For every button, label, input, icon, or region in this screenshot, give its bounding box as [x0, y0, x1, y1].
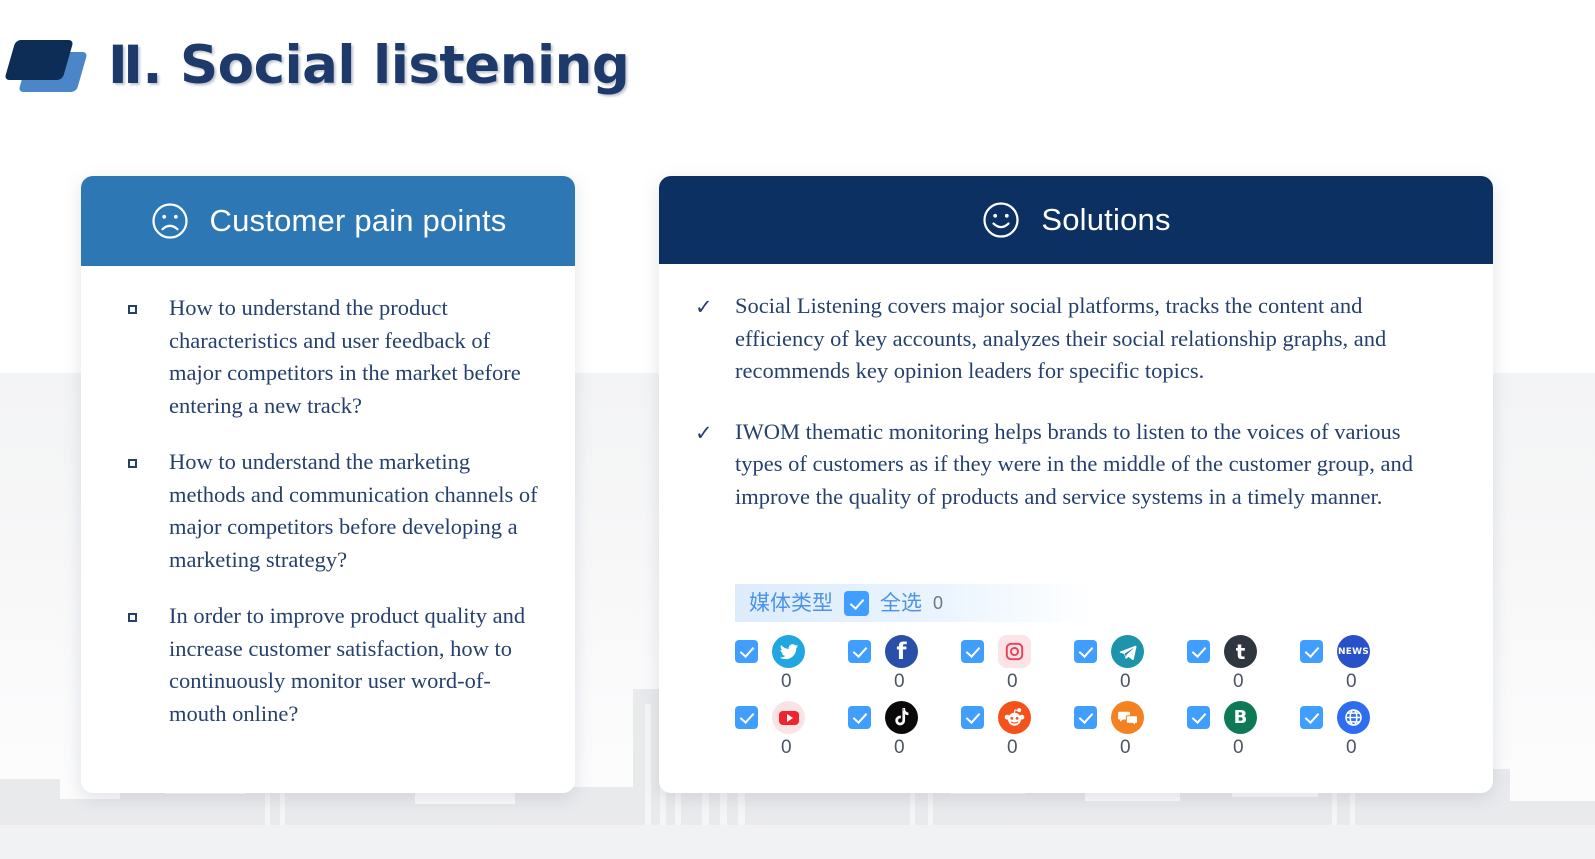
media-cell-forum: 0 — [1074, 701, 1187, 757]
blog-icon-label: B — [1234, 709, 1248, 727]
smiling-face-icon — [981, 200, 1021, 240]
solutions-card-body: ✓ Social Listening covers major social p… — [659, 264, 1493, 513]
select-all-count: 0 — [933, 594, 943, 612]
forum-checkbox[interactable] — [1074, 706, 1097, 729]
news-icon-label: NEWS — [1338, 647, 1369, 657]
forum-count: 0 — [1120, 738, 1131, 757]
media-cell-web: 0 — [1300, 701, 1413, 757]
globe-icon[interactable] — [1337, 701, 1370, 734]
page-title: Ⅱ. Social listening — [108, 39, 629, 92]
tiktok-count: 0 — [894, 738, 905, 757]
square-bullet-icon — [128, 459, 137, 468]
media-cell-tumblr: t 0 — [1187, 635, 1300, 691]
media-type-label: 媒体类型 — [749, 593, 833, 614]
reddit-icon[interactable] — [998, 701, 1031, 734]
customer-pain-points-card: Customer pain points How to understand t… — [81, 176, 575, 793]
news-checkbox[interactable] — [1300, 640, 1323, 663]
tiktok-icon[interactable] — [885, 701, 918, 734]
media-cell-twitter: 0 — [735, 635, 848, 691]
tumblr-checkbox[interactable] — [1187, 640, 1210, 663]
blog-icon[interactable]: B — [1224, 701, 1257, 734]
solutions-list: ✓ Social Listening covers major social p… — [659, 290, 1493, 513]
telegram-checkbox[interactable] — [1074, 640, 1097, 663]
reddit-checkbox[interactable] — [961, 706, 984, 729]
youtube-icon[interactable] — [772, 701, 805, 734]
pain-item-text: In order to improve product quality and … — [169, 600, 541, 730]
instagram-icon[interactable] — [998, 635, 1031, 668]
solutions-card-title: Solutions — [1041, 202, 1170, 238]
stacked-parallelogram-logo-icon — [8, 34, 82, 96]
media-cell-blog: B 0 — [1187, 701, 1300, 757]
list-item: How to understand the product characteri… — [111, 292, 553, 422]
frowning-face-icon — [150, 201, 190, 241]
web-checkbox[interactable] — [1300, 706, 1323, 729]
twitter-count: 0 — [781, 672, 792, 691]
instagram-count: 0 — [1007, 672, 1018, 691]
telegram-icon[interactable] — [1111, 635, 1144, 668]
solution-item-text: Social Listening covers major social pla… — [735, 290, 1449, 388]
media-cell-facebook: f 0 — [848, 635, 961, 691]
blog-count: 0 — [1233, 738, 1244, 757]
twitter-icon[interactable] — [772, 635, 805, 668]
pain-card-title: Customer pain points — [210, 203, 507, 239]
forum-icon[interactable] — [1111, 701, 1144, 734]
youtube-count: 0 — [781, 738, 792, 757]
media-cell-telegram: 0 — [1074, 635, 1187, 691]
facebook-icon[interactable]: f — [885, 635, 918, 668]
media-cell-youtube: 0 — [735, 701, 848, 757]
list-item: How to understand the marketing methods … — [111, 446, 553, 576]
facebook-count: 0 — [894, 672, 905, 691]
list-item: ✓ IWOM thematic monitoring helps brands … — [687, 416, 1449, 514]
select-all-checkbox[interactable] — [844, 591, 869, 616]
blog-checkbox[interactable] — [1187, 706, 1210, 729]
pain-card-body: How to understand the product characteri… — [81, 266, 575, 730]
media-cell-reddit: 0 — [961, 701, 1074, 757]
slide-header: Ⅱ. Social listening — [0, 0, 629, 130]
media-cell-tiktok: 0 — [848, 701, 961, 757]
select-all-label[interactable]: 全选 — [880, 593, 922, 614]
web-count: 0 — [1346, 738, 1357, 757]
solutions-card-header: Solutions — [659, 176, 1493, 264]
square-bullet-icon — [128, 305, 137, 314]
media-cell-instagram: 0 — [961, 635, 1074, 691]
square-bullet-icon — [128, 613, 137, 622]
list-item: In order to improve product quality and … — [111, 600, 553, 730]
telegram-count: 0 — [1120, 672, 1131, 691]
pain-card-header: Customer pain points — [81, 176, 575, 266]
tiktok-checkbox[interactable] — [848, 706, 871, 729]
media-type-grid: 0 f 0 — [735, 635, 1415, 757]
instagram-checkbox[interactable] — [961, 640, 984, 663]
news-count: 0 — [1346, 672, 1357, 691]
twitter-checkbox[interactable] — [735, 640, 758, 663]
facebook-checkbox[interactable] — [848, 640, 871, 663]
pain-item-text: How to understand the marketing methods … — [169, 446, 541, 576]
pain-item-text: How to understand the product characteri… — [169, 292, 541, 422]
check-bullet-icon: ✓ — [695, 423, 715, 444]
solution-item-text: IWOM thematic monitoring helps brands to… — [735, 416, 1449, 514]
tumblr-count: 0 — [1233, 672, 1244, 691]
list-item: ✓ Social Listening covers major social p… — [687, 290, 1449, 388]
youtube-checkbox[interactable] — [735, 706, 758, 729]
pain-point-list: How to understand the product characteri… — [81, 292, 575, 730]
check-bullet-icon: ✓ — [695, 297, 715, 318]
tumblr-icon[interactable]: t — [1224, 635, 1257, 668]
media-type-row: 0 0 — [735, 701, 1415, 757]
media-cell-news: NEWS 0 — [1300, 635, 1413, 691]
media-type-selector: 媒体类型 全选 0 0 — [735, 584, 1415, 767]
reddit-count: 0 — [1007, 738, 1018, 757]
news-icon[interactable]: NEWS — [1337, 635, 1370, 668]
media-type-row: 0 f 0 — [735, 635, 1415, 691]
media-type-titlebar: 媒体类型 全选 0 — [735, 584, 1093, 622]
